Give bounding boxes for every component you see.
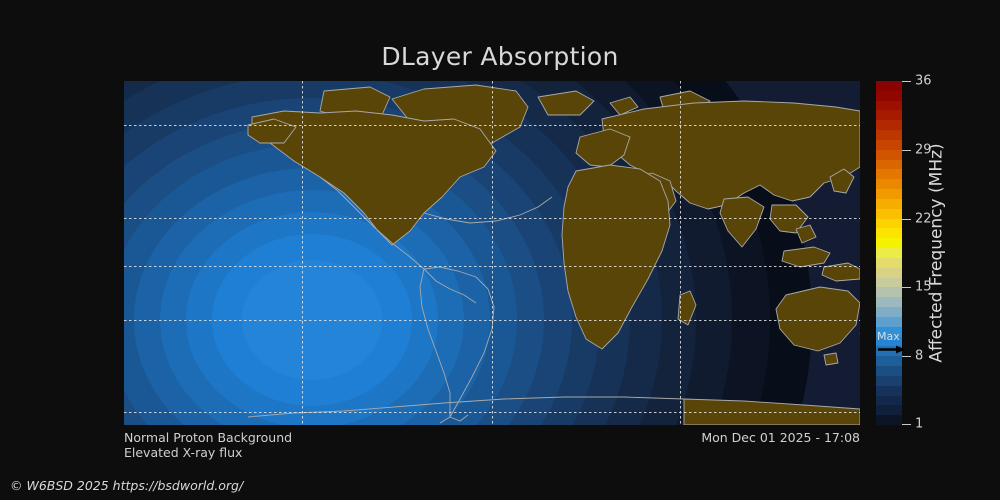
copyright-notice: © W6BSD 2025 https://bsdworld.org/	[10, 478, 243, 493]
colorbar-band	[876, 209, 902, 219]
page-title: DLayer Absorption	[0, 42, 1000, 71]
colorbar-band	[876, 199, 902, 209]
colorbar-band	[876, 268, 902, 278]
colorbar-band	[876, 258, 902, 268]
colorbar-band	[876, 120, 902, 130]
colorbar-band	[876, 140, 902, 150]
arrow-right-icon	[878, 345, 905, 354]
world-map[interactable]	[124, 81, 860, 425]
colorbar-band	[876, 287, 902, 297]
colorbar-band	[876, 405, 902, 415]
colorbar-tick-mark	[902, 287, 911, 288]
max-marker: Max	[876, 330, 906, 354]
proton-status: Normal Proton Background	[124, 430, 292, 445]
colorbar-band	[876, 396, 902, 406]
colorbar-band	[876, 376, 902, 386]
colorbar-band	[876, 307, 902, 317]
colorbar-band	[876, 179, 902, 189]
colorbar[interactable]	[876, 81, 902, 425]
colorbar-band	[876, 160, 902, 170]
colorbar-tick-mark	[902, 219, 911, 220]
colorbar-tick-mark	[902, 424, 911, 425]
colorbar-band	[876, 238, 902, 248]
colorbar-band	[876, 150, 902, 160]
colorbar-band	[876, 110, 902, 120]
colorbar-band	[876, 248, 902, 258]
colorbar-ticks: 1815222936	[902, 81, 922, 425]
colorbar-tick-mark	[902, 150, 911, 151]
colorbar-tick-label: 8	[915, 349, 923, 364]
colorbar-band	[876, 415, 902, 425]
colorbar-band	[876, 228, 902, 238]
colorbar-band	[876, 130, 902, 140]
colorbar-band	[876, 81, 902, 91]
colorbar-tick-mark	[902, 81, 911, 82]
coastline-layer	[124, 81, 860, 425]
landmasses	[248, 85, 860, 425]
colorbar-band	[876, 91, 902, 101]
colorbar-band	[876, 356, 902, 366]
colorbar-band	[876, 169, 902, 179]
xray-status: Elevated X-ray flux	[124, 445, 242, 460]
colorbar-band	[876, 317, 902, 327]
colorbar-band	[876, 297, 902, 307]
colorbar-band	[876, 189, 902, 199]
colorbar-band	[876, 219, 902, 229]
colorbar-band	[876, 101, 902, 111]
colorbar-band	[876, 278, 902, 288]
max-marker-label: Max	[877, 330, 900, 343]
timestamp: Mon Dec 01 2025 - 17:08	[701, 430, 860, 445]
colorbar-tick-mark	[902, 356, 911, 357]
colorbar-axis-label: Affected Frequency (MHz)	[926, 81, 948, 425]
colorbar-band	[876, 366, 902, 376]
colorbar-band	[876, 386, 902, 396]
colorbar-tick-label: 1	[915, 417, 923, 432]
